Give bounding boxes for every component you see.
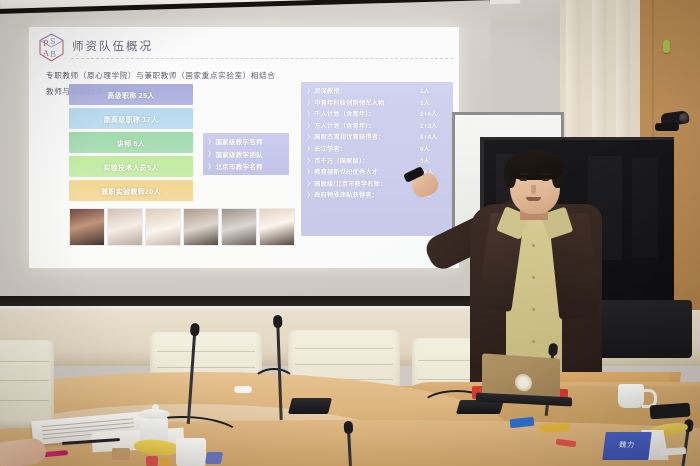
chevron-right-icon: ❯ (306, 145, 311, 152)
talent-row: ❯万人计划（含青年）：2+2人 (306, 121, 448, 130)
rank-bar: 兼职实验教师20人 (69, 180, 193, 201)
mic-head-icon (344, 421, 354, 434)
svg-text:P: P (43, 39, 49, 48)
rank-bar-label: 兼职实验教师20人 (101, 186, 161, 196)
portrait-image (69, 208, 105, 246)
chevron-right-icon: ❯ (306, 180, 311, 187)
wall-clip-icon (663, 40, 670, 53)
chevron-right-icon: ❯ (207, 138, 212, 145)
portrait-image (107, 208, 143, 246)
faculty-photo (183, 208, 219, 247)
chevron-right-icon: ❯ (306, 157, 311, 164)
display-reflection (632, 158, 658, 258)
slide-bullet-1: 专职教师（原心理学院）与兼职教师（国家重点实验室）相结合 (46, 70, 450, 81)
chevron-right-icon: ❯ (306, 168, 311, 175)
talent-label: 资深教授： (314, 86, 417, 95)
ceiling-camera-icon (655, 112, 689, 132)
laptop (482, 356, 566, 404)
presenter-eye (520, 178, 527, 181)
talent-value: 8+4人 (420, 132, 448, 141)
rank-bar-chart: 高级职称 25人 副高级职称 17人 讲师 5人 实验技术人员5人 兼职实验教师… (69, 84, 193, 204)
chevron-right-icon: ❯ (207, 163, 212, 170)
smartphone (650, 403, 691, 420)
name-card: 魏力 (602, 432, 651, 460)
rank-bar-label: 副高级职称 17人 (104, 114, 159, 124)
portrait-image (183, 208, 219, 246)
talent-label: 长江学者： (314, 144, 417, 153)
desk-item (205, 452, 223, 464)
desk-item (160, 458, 170, 466)
honor-item: ❯国家级教学名师 (207, 136, 285, 146)
talent-value: 1人 (420, 98, 448, 107)
presenter-hair (506, 150, 564, 180)
screenshot-root: P S A B 师资队伍概况 专职教师（原心理学院）与兼职教师（国家重点实验室）… (0, 0, 700, 466)
desk-remote (234, 386, 252, 393)
chevron-right-icon: ❯ (306, 122, 311, 129)
slide-body: 高级职称 25人 副高级职称 17人 讲师 5人 实验技术人员5人 兼职实验教师… (37, 84, 451, 260)
projected-slide: P S A B 师资队伍概况 专职教师（原心理学院）与兼职教师（国家重点实验室）… (29, 27, 459, 268)
faculty-photo (69, 208, 105, 247)
mic-head-icon (273, 315, 282, 328)
chevron-right-icon: ❯ (306, 87, 311, 94)
talent-row: ❯千人计划（含青年）：2+4人 (306, 109, 448, 118)
portrait-image (259, 208, 295, 246)
honor-label: 北京市教学名师 (215, 161, 263, 171)
faculty-photo (221, 208, 257, 247)
faculty-photo (259, 208, 295, 247)
portrait-image (145, 208, 181, 246)
rank-bar-label: 讲师 5人 (117, 138, 145, 148)
chevron-right-icon: ❯ (306, 133, 311, 140)
talent-label: 国家杰青和优青获得者： (314, 132, 417, 141)
laptop-sticker-icon (515, 374, 532, 392)
rank-bar-label: 实验技术人员5人 (103, 162, 158, 172)
chevron-right-icon: ❯ (306, 191, 311, 198)
faculty-photo (107, 208, 143, 247)
portrait-image (221, 208, 257, 246)
honor-item: ❯北京市教学名师 (207, 161, 285, 171)
talent-label: 教育部新世纪优秀人才 (314, 167, 417, 176)
teacup-knob (152, 404, 159, 411)
attendee-hand (0, 437, 47, 466)
talent-row: ❯中青年科技创新领军人物1人 (306, 98, 448, 107)
faculty-photo (145, 208, 181, 247)
talent-label: 百千万（国家级）： (314, 156, 417, 165)
faculty-photo-row (69, 208, 295, 247)
talent-row: ❯国家杰青和优青获得者：8+4人 (306, 132, 448, 141)
talent-label: 国家级/北京市教学名师： (314, 179, 417, 188)
rank-bar: 实验技术人员5人 (69, 156, 193, 177)
svg-text:A: A (42, 49, 49, 58)
talent-value: 2+4人 (420, 109, 448, 118)
white-mug (176, 438, 206, 466)
honor-item: ❯国家级教学团队 (207, 149, 285, 159)
chevron-right-icon: ❯ (306, 99, 311, 106)
coffee-mug (618, 384, 644, 408)
talent-row: ❯资深教授：1人 (306, 86, 448, 95)
svg-text:S: S (50, 37, 55, 46)
desk-item (112, 448, 130, 460)
desk-item (146, 456, 158, 466)
presenter-eye (542, 178, 549, 181)
chevron-right-icon: ❯ (306, 110, 311, 117)
rank-bar-label: 高级职称 25人 (107, 90, 154, 100)
lab-logo-icon: P S A B (38, 33, 65, 62)
talent-value: 1人 (420, 86, 448, 95)
office-chair (0, 340, 54, 428)
talent-label: 万人计划（含青年）： (314, 121, 417, 130)
chevron-right-icon: ❯ (207, 150, 212, 157)
dark-chair-back (596, 300, 692, 358)
slide-header: P S A B 师资队伍概况 (38, 33, 450, 61)
talent-label: 中青年科技创新领军人物 (314, 98, 417, 107)
teaching-honors-box: ❯国家级教学名师 ❯国家级教学团队 ❯北京市教学名师 (203, 133, 289, 175)
rank-bar: 讲师 5人 (69, 132, 193, 153)
mic-head-icon (190, 323, 200, 337)
rank-bar: 高级职称 25人 (69, 84, 193, 105)
name-card-text: 魏力 (602, 432, 651, 460)
title-divider (71, 58, 453, 59)
slide-title: 师资队伍概况 (72, 38, 153, 54)
talent-label: 千人计划（含青年）： (314, 109, 417, 118)
presenter-mouth (526, 197, 541, 201)
svg-text:B: B (50, 50, 56, 59)
talent-label: 政府特殊津贴获得者： (314, 190, 417, 199)
honor-label: 国家级教学团队 (215, 149, 263, 159)
rank-bar: 副高级职称 17人 (69, 108, 193, 129)
honor-label: 国家级教学名师 (215, 136, 263, 146)
talent-value: 2+2人 (420, 121, 448, 130)
microphone-base (288, 398, 332, 414)
mic-cable (252, 368, 296, 398)
